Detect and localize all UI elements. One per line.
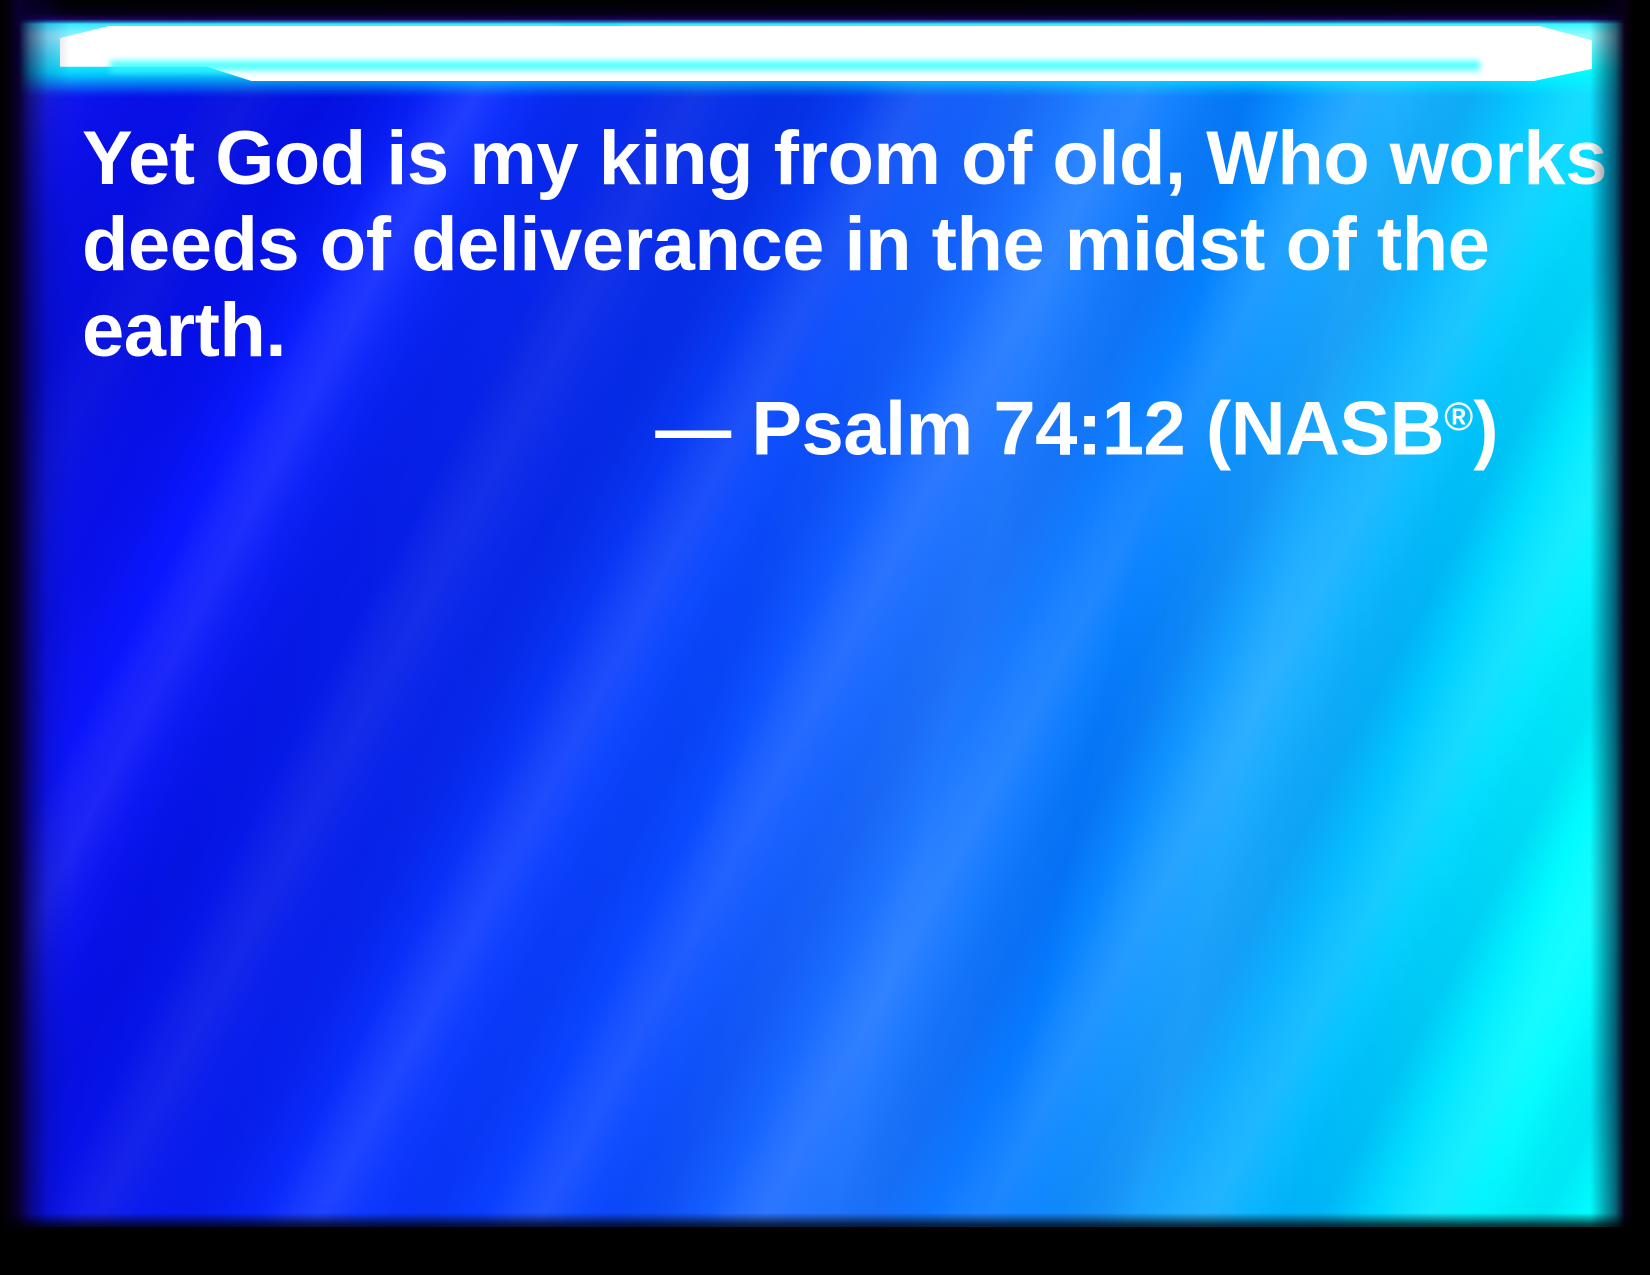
attribution-open-paren: ( — [1206, 387, 1231, 472]
verse-text-block: Yet God is my king from of old, Who work… — [82, 116, 1482, 374]
attribution-spacer-3 — [1185, 387, 1206, 472]
verse-line-1: Yet God is my king from of old, Who work… — [82, 116, 1482, 202]
frame-edge-left — [0, 0, 70, 1275]
attribution-translation: NASB — [1231, 387, 1444, 472]
attribution-spacer-1 — [731, 387, 752, 472]
attribution-reference: 74:12 — [993, 387, 1185, 472]
top-banner-cyan-core — [110, 58, 1480, 73]
attribution-close-paren: ) — [1473, 387, 1498, 472]
verse-line-3: earth. — [82, 288, 1482, 374]
frame-edge-right — [1590, 0, 1650, 1275]
verse-line-2: deeds of deliverance in the midst of the — [82, 202, 1482, 288]
frame-edge-top — [0, 0, 1650, 24]
attribution-em-dash: — — [655, 387, 731, 472]
frame-edge-bottom — [0, 1213, 1650, 1275]
attribution-book: Psalm — [751, 387, 972, 472]
verse-attribution: — Psalm 74:12 (NASB®) — [655, 374, 1498, 473]
registered-trademark-icon: ® — [1444, 395, 1473, 439]
attribution-spacer-2 — [973, 387, 994, 472]
verse-slide: Yet God is my king from of old, Who work… — [0, 0, 1650, 1275]
